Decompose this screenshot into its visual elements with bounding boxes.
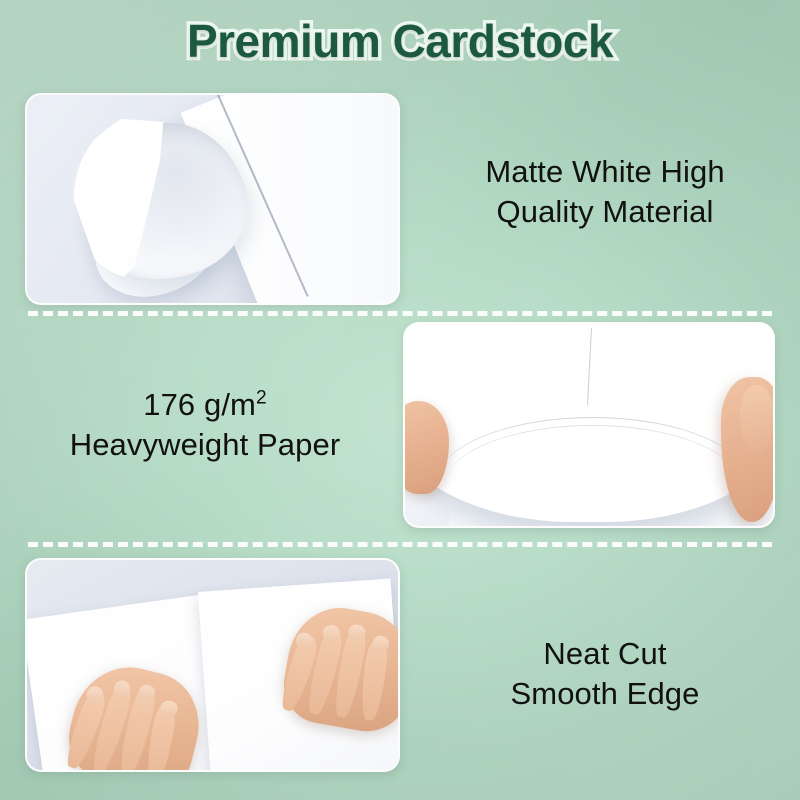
feature-line-2: Smooth Edge	[430, 674, 780, 714]
feature-text-matte-white: Matte White High Quality Material	[430, 152, 780, 233]
page-title-container: Premium Cardstock	[0, 14, 800, 68]
feature-text-heavyweight: 176 g/m2 Heavyweight Paper	[20, 385, 390, 466]
photo-card-curled-paper	[25, 93, 400, 305]
feature-line-1: Neat Cut	[430, 634, 780, 674]
photo-card-bending-paper	[403, 322, 775, 528]
paper-sheets-photo	[27, 560, 398, 770]
feature-line-1: 176 g/m2	[20, 385, 390, 425]
dashed-divider-2	[28, 542, 772, 547]
dashed-divider-1	[28, 311, 772, 316]
feature-text-neat-cut: Neat Cut Smooth Edge	[430, 634, 780, 715]
feature-line-2: Heavyweight Paper	[20, 425, 390, 465]
page-title: Premium Cardstock	[187, 14, 613, 68]
feature-line-2: Quality Material	[430, 192, 780, 232]
gsm-superscript: 2	[256, 388, 267, 409]
curled-paper-photo	[27, 95, 398, 303]
bending-paper-photo	[405, 324, 773, 526]
photo-card-paper-sheets	[25, 558, 400, 772]
thumb-right	[740, 385, 773, 454]
feature-line-1: Matte White High	[430, 152, 780, 192]
gsm-value: 176 g/m	[143, 387, 256, 422]
